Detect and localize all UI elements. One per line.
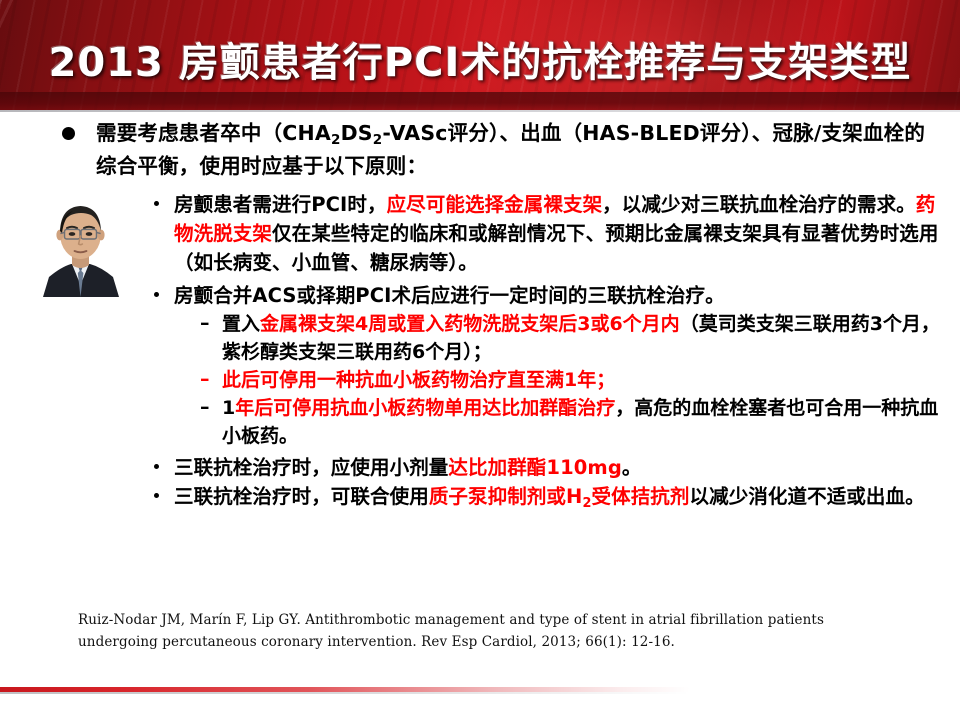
- bullet-dot-icon: [154, 201, 159, 206]
- bullet-low-dose-dabigatran-text: 三联抗栓治疗时，应使用小剂量达比加群酯110mg。: [174, 456, 642, 479]
- dash-item-dabigatran-monotherapy: – 1年后可停用抗血小板药物单用达比加群酯治疗，高危的血栓栓塞者也可合用一种抗血…: [0, 394, 960, 450]
- dash-marker-icon: –: [200, 365, 210, 393]
- cha2ds2-sub-1: 2: [331, 132, 341, 148]
- bullet-stent-choice-text: 房颤患者需进行PCI时，应尽可能选择金属裸支架，以减少对三联抗血栓治疗的需求。药…: [174, 193, 938, 274]
- bullet-dot-icon: [154, 493, 159, 498]
- slide-canvas: 2013 房颤患者行PCI术的抗栓推荐与支架类型: [0, 0, 960, 720]
- bullet-lead-text: 需要考虑患者卒中（CHA2DS2-VASc评分）、出血（HAS-BLED评分）、…: [96, 121, 925, 178]
- bullet-ppi-h2ra-text: 三联抗栓治疗时，可联合使用质子泵抑制剂或H2受体拮抗剂以减少消化道不适或出血。: [174, 485, 925, 508]
- bullet-stent-choice: 房颤患者需进行PCI时，应尽可能选择金属裸支架，以减少对三联抗血栓治疗的需求。药…: [0, 190, 960, 277]
- bullet-dot-icon: [62, 127, 75, 140]
- banner-bottom-band: [0, 92, 960, 112]
- page-title: 2013 房颤患者行PCI术的抗栓推荐与支架类型: [0, 30, 960, 88]
- bullet-acs-triple-therapy: 房颤合并ACS或择期PCI术后应进行一定时间的三联抗栓治疗。: [0, 281, 960, 310]
- citation-line-1: Ruiz-Nodar JM, Marín F, Lip GY. Antithro…: [78, 609, 878, 631]
- cha2ds2-sub-2: 2: [373, 132, 383, 148]
- bullet-acs-triple-therapy-text: 房颤合并ACS或择期PCI术后应进行一定时间的三联抗栓治疗。: [174, 284, 725, 307]
- bullet-dot-icon: [154, 292, 159, 297]
- bullet-lead: 需要考虑患者卒中（CHA2DS2-VASc评分）、出血（HAS-BLED评分）、…: [0, 118, 960, 181]
- dash-item-duration-text: 置入金属裸支架4周或置入药物洗脱支架后3或6个月内（莫司类支架三联用药3个月，紫…: [222, 313, 940, 363]
- dash-item-stop-one-antiplatelet: – 此后可停用一种抗血小板药物治疗直至满1年；: [0, 366, 960, 394]
- bullet-ppi-h2ra: 三联抗栓治疗时，可联合使用质子泵抑制剂或H2受体拮抗剂以减少消化道不适或出血。: [0, 482, 960, 514]
- dash-item-dabigatran-monotherapy-text: 1年后可停用抗血小板药物单用达比加群酯治疗，高危的血栓栓塞者也可合用一种抗血小板…: [222, 397, 938, 447]
- bullet-dot-icon: [154, 464, 159, 469]
- slide-body: 需要考虑患者卒中（CHA2DS2-VASc评分）、出血（HAS-BLED评分）、…: [0, 118, 960, 514]
- dash-marker-icon: –: [200, 309, 210, 337]
- h2-subscript: 2: [582, 496, 591, 511]
- dash-item-stop-one-antiplatelet-text: 此后可停用一种抗血小板药物治疗直至满1年；: [222, 369, 615, 391]
- banner-hairline: [0, 110, 960, 112]
- citation: Ruiz-Nodar JM, Marín F, Lip GY. Antithro…: [78, 609, 878, 653]
- bullet-low-dose-dabigatran: 三联抗栓治疗时，应使用小剂量达比加群酯110mg。: [0, 453, 960, 482]
- dash-item-duration: – 置入金属裸支架4周或置入药物洗脱支架后3或6个月内（莫司类支架三联用药3个月…: [0, 310, 960, 366]
- citation-line-2: undergoing percutaneous coronary interve…: [78, 631, 878, 653]
- dash-marker-icon: –: [200, 393, 210, 421]
- bottom-accent-rule-shadow: [0, 692, 690, 694]
